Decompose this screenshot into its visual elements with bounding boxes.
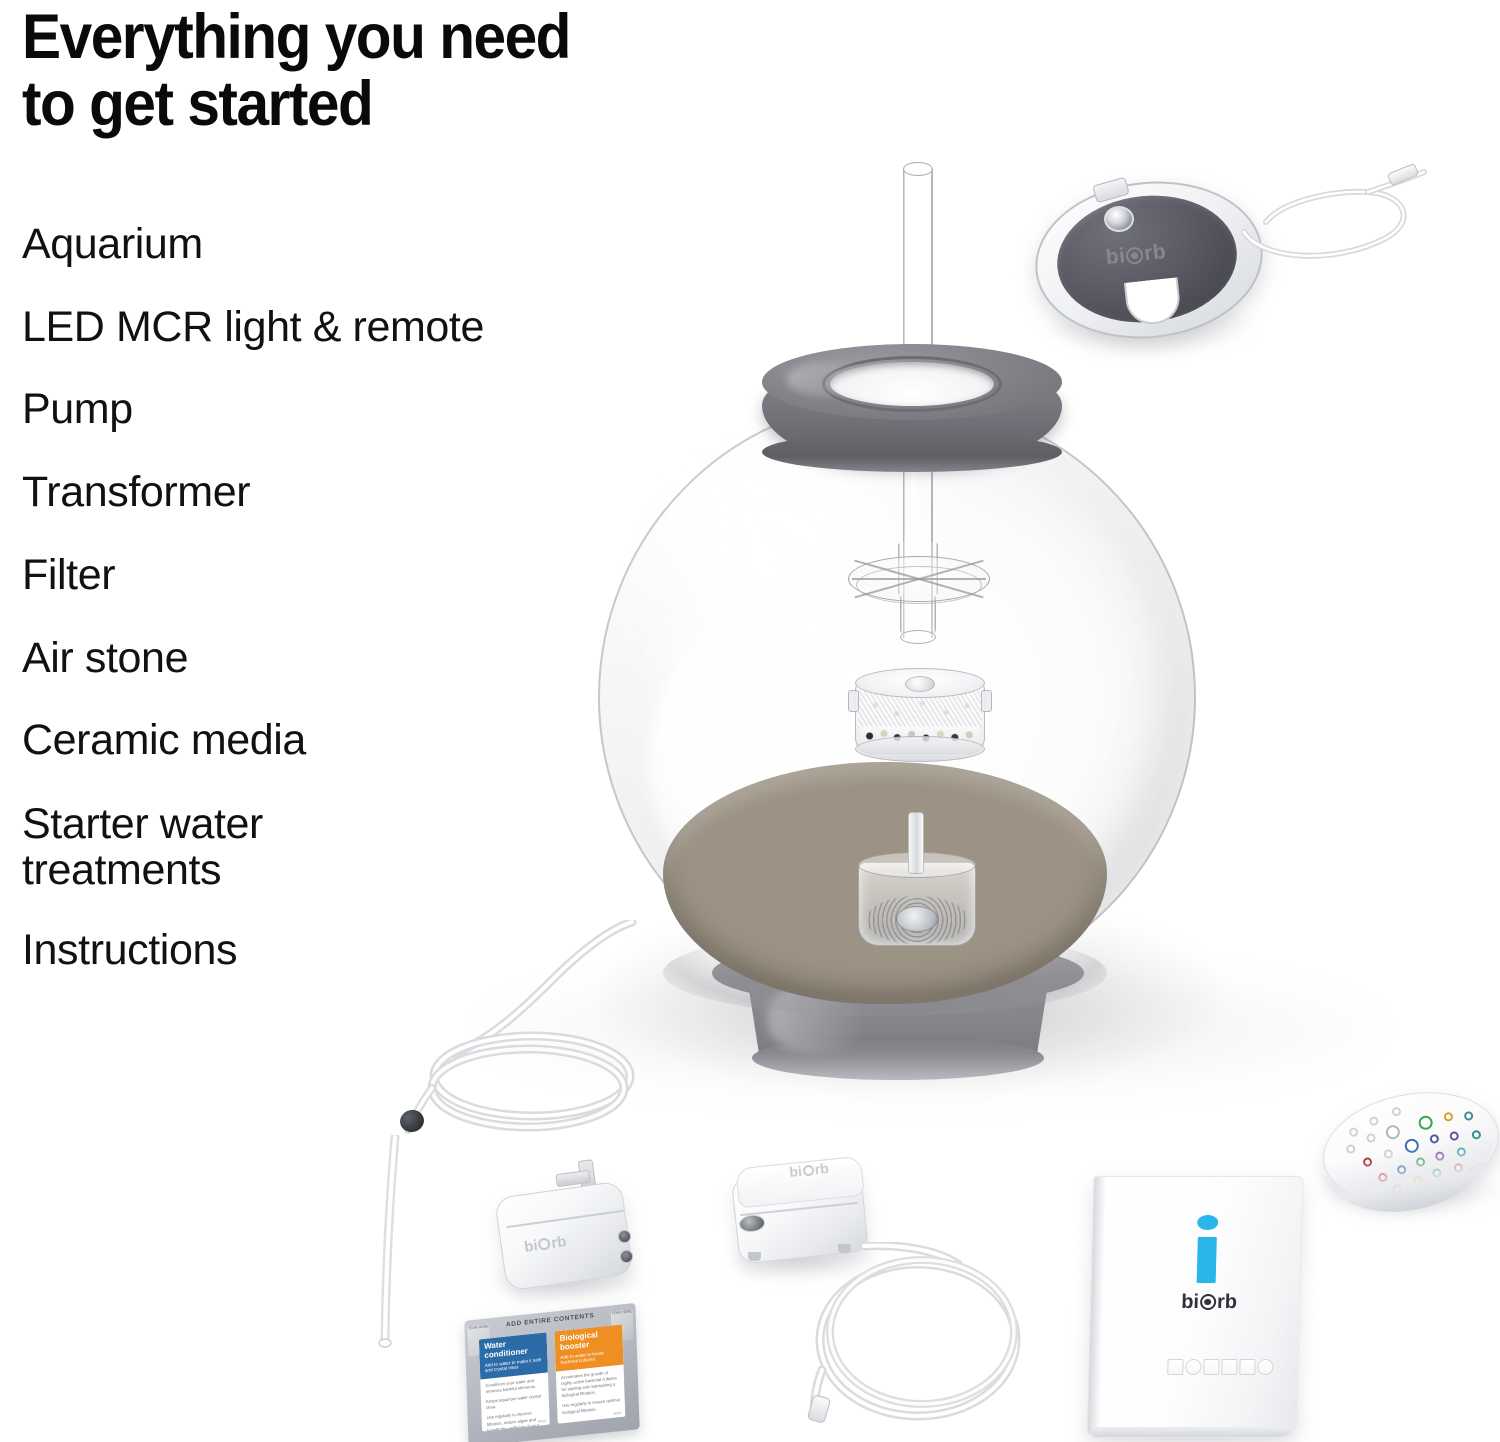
remote-button-brightness[interactable] <box>1369 1116 1380 1127</box>
filter-cartridge-bottom-rim <box>855 736 985 762</box>
remote-button-mode[interactable] <box>1391 1106 1402 1117</box>
panel-subtitle: Add to water to boost bacterial cultures <box>560 1348 619 1366</box>
manual-icon-1 <box>1167 1359 1183 1375</box>
product-infographic: Everything you need to get started Aquar… <box>0 0 1500 1442</box>
brand-suffix: rb <box>1217 1291 1238 1313</box>
remote-button-dim-down[interactable] <box>1346 1144 1357 1155</box>
remote-button-teal-1[interactable] <box>1463 1111 1474 1122</box>
pump-intake-opening <box>900 630 936 644</box>
brand-orb-icon <box>1125 246 1144 265</box>
brand-suffix: rb <box>814 1160 830 1177</box>
panel-body-line: Keeps aquarium water crystal clear. <box>486 1393 544 1411</box>
panel-volume-water-conditioner: 50ml <box>538 1419 546 1424</box>
instruction-manual: birb <box>1087 1176 1304 1438</box>
panel-body-line: Use regularly to improve filtration, red… <box>487 1409 546 1431</box>
manual-page-edges <box>1092 1427 1296 1438</box>
brand-orb-icon <box>1200 1294 1216 1310</box>
pump-disc-inner-ring <box>856 566 982 604</box>
filter-cartridge-handle-knob <box>905 676 935 692</box>
air-stone-in-tank <box>908 812 924 874</box>
led-bulb-icon <box>1104 206 1134 232</box>
remote-button-green-main[interactable] <box>1417 1115 1433 1131</box>
brand-suffix: rb <box>1143 240 1167 266</box>
sachet-panel-biological-booster: Biological booster Add to water to boost… <box>554 1324 625 1423</box>
brand-suffix: rb <box>550 1233 567 1252</box>
info-i-dot <box>1197 1215 1218 1230</box>
brand-prefix: bi <box>523 1237 539 1256</box>
remote-button-power[interactable] <box>1348 1127 1359 1138</box>
panel-volume-biological-booster: 50ml <box>613 1411 621 1416</box>
manual-brand-logo: birb <box>1169 1291 1250 1314</box>
filter-cartridge-clip-right <box>981 690 992 712</box>
air-pump-tubing-coil <box>806 1242 1026 1432</box>
aquarium-riser-tube-opening <box>903 162 933 176</box>
panel-body-line: Use regularly to ensure optimal biologic… <box>562 1397 620 1415</box>
air-tubing-coil <box>392 920 662 1150</box>
panel-title: Water conditioner <box>484 1340 528 1360</box>
aquarium-collar-highlight <box>786 362 872 396</box>
brand-orb-icon <box>538 1237 552 1251</box>
remote-button-center-white[interactable] <box>1385 1124 1401 1140</box>
manual-icon-4 <box>1221 1359 1237 1375</box>
info-i-icon <box>1196 1215 1219 1283</box>
panel-body-line: Conditions your water and removes harmfu… <box>485 1377 543 1395</box>
brand-prefix: bi <box>1105 244 1127 270</box>
manual-icon-6 <box>1257 1359 1273 1375</box>
starter-water-treatment-sachet: ADD ENTIRE CONTENTS TEAR HERE TEAR HERE … <box>464 1303 639 1442</box>
undergravel-filter-hub <box>896 906 938 932</box>
product-photo-scene: birb <box>0 0 1500 1442</box>
manual-spine <box>1088 1177 1107 1437</box>
brand-prefix: bi <box>1181 1291 1199 1313</box>
remote-button-dim-up[interactable] <box>1366 1133 1377 1144</box>
transformer-output-port-1 <box>618 1230 631 1243</box>
panel-subtitle: Add to water to make it safe and crystal… <box>485 1356 544 1374</box>
panel-title: Biological booster <box>560 1330 598 1352</box>
air-pump-foot-left <box>748 1252 761 1261</box>
manual-icon-5 <box>1239 1359 1255 1375</box>
transformer-output-port-2 <box>620 1250 633 1263</box>
aquarium-collar-lip <box>762 432 1062 472</box>
brand-orb-icon <box>802 1164 814 1176</box>
manual-icon-2 <box>1185 1359 1201 1375</box>
sachet-panel-water-conditioner: Water conditioner Add to water to make i… <box>479 1332 550 1431</box>
manual-language-icons <box>1167 1359 1273 1375</box>
air-stone-tube <box>378 1135 402 1353</box>
filter-cartridge-clip-left <box>848 690 859 712</box>
panel-body-line: Accelerates the growth of highly active … <box>561 1369 620 1399</box>
remote-button-amber-1[interactable] <box>1443 1112 1454 1123</box>
manual-icon-3 <box>1203 1359 1219 1375</box>
brand-prefix: bi <box>789 1163 803 1180</box>
info-i-stem <box>1197 1237 1217 1283</box>
